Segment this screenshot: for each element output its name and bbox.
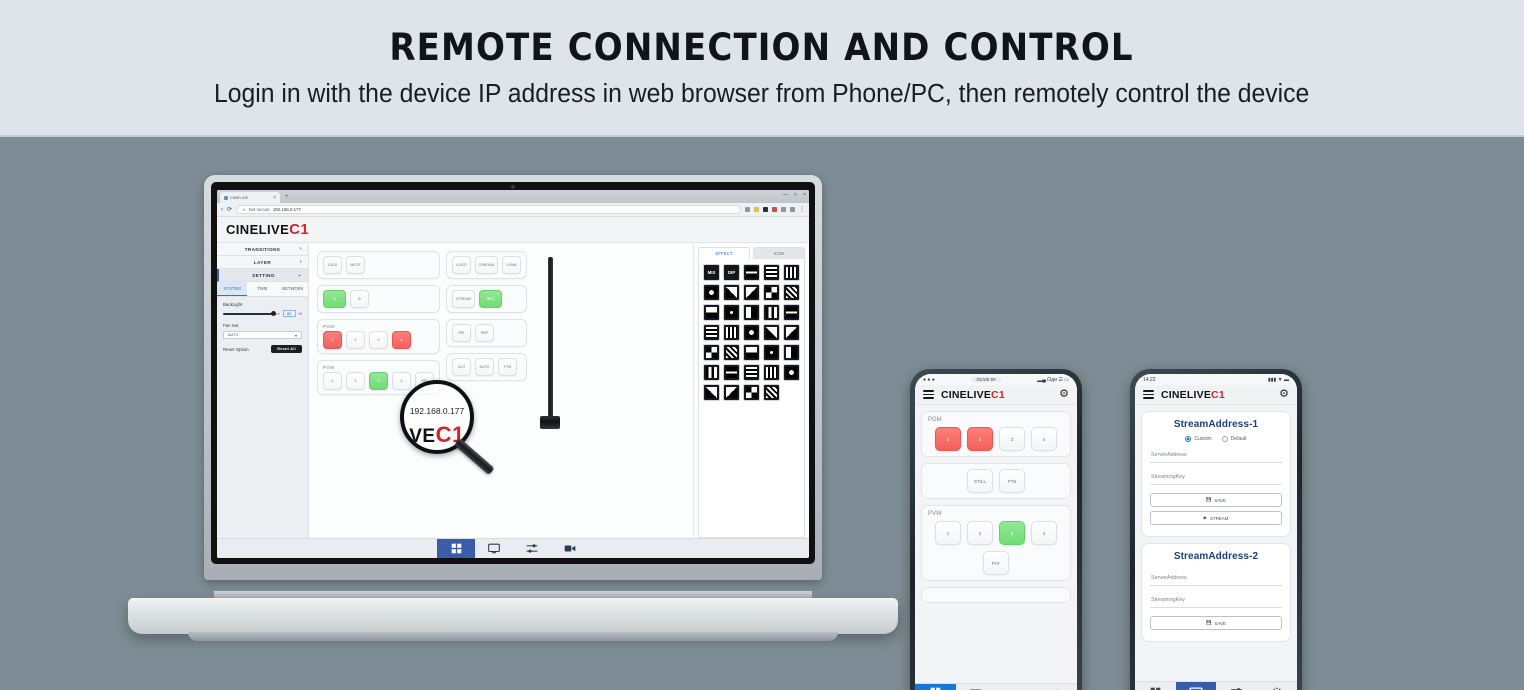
pgm-group: PGM 1 2 3 4 <box>317 319 440 354</box>
radio-custom[interactable]: Custom <box>1185 436 1211 442</box>
effect-thumbnail <box>746 367 757 378</box>
address-bar[interactable]: ⚠ Not secure 192.168.0.177 <box>236 205 741 214</box>
pgm-button-3[interactable]: 3 <box>999 427 1025 451</box>
stream-group: STREAM REC <box>446 285 527 313</box>
save-icon: 💾 <box>1206 497 1211 503</box>
app-header: CINELIVEC1 <box>217 217 809 243</box>
nav-tab-console[interactable]: CONSOLE <box>915 684 956 690</box>
sliders-icon <box>526 543 538 554</box>
footer-tab-settings[interactable] <box>513 539 551 559</box>
chevron-right-icon: › <box>300 259 302 265</box>
effect-cell-26[interactable] <box>703 364 720 381</box>
magnified-brand-text: VE <box>409 426 435 447</box>
nav-tab-sliders[interactable] <box>1216 682 1257 690</box>
effect-thumbnail <box>746 267 757 278</box>
transition-group: CUT AUTO FTB <box>446 353 527 381</box>
sidebar-item-label: LAYER <box>254 260 271 265</box>
bus-a-button[interactable]: A <box>323 290 346 308</box>
brand-text: CINELIVE <box>941 389 991 401</box>
brand-accent: C1 <box>1211 389 1225 401</box>
cut-button[interactable]: CUT <box>452 358 471 376</box>
tab-system[interactable]: SYSTEM <box>217 282 247 296</box>
pgm-button-4[interactable]: 4 <box>392 331 411 349</box>
brand-accent: C1 <box>991 389 1005 401</box>
pip-button[interactable]: PIP <box>452 324 471 342</box>
button-row: A B <box>323 290 434 308</box>
effect-cell-19[interactable] <box>763 324 780 341</box>
sidebar-item-transitions[interactable]: TRANSITIONS › <box>217 243 308 256</box>
effect-thumbnail <box>726 327 737 338</box>
control-panels: LOCK MUTE A B <box>309 243 693 538</box>
effect-cell-6[interactable] <box>703 284 720 301</box>
effect-thumbnail <box>746 287 757 298</box>
effect-cell-10[interactable] <box>783 284 800 301</box>
pat-button[interactable]: PAT <box>983 551 1009 575</box>
ftb-button[interactable]: FTB <box>498 358 517 376</box>
effect-thumbnail <box>766 347 777 358</box>
browser-tab[interactable]: CINELIVE × <box>220 192 280 203</box>
status-right: ▮▮▮ ▼ ▬ <box>1268 377 1289 383</box>
hamburger-icon[interactable] <box>923 390 934 399</box>
lock-button[interactable]: LOCK <box>323 256 342 274</box>
effect-thumbnail <box>706 307 717 318</box>
server-address-input[interactable]: ServerAddress <box>1150 449 1282 463</box>
radio-default[interactable]: Default <box>1222 436 1247 442</box>
footer-tab-console[interactable] <box>437 539 475 559</box>
stream-card-title: StreamAddress-2 <box>1150 551 1282 562</box>
extension-icon-1[interactable] <box>745 207 750 212</box>
button-row: LOCK MUTE <box>323 256 434 274</box>
pvw-button-2[interactable]: 2 <box>967 521 993 545</box>
extension-icon-6[interactable] <box>790 207 795 212</box>
phone1-still-ftb-group: STILL FTB <box>921 463 1071 499</box>
effect-thumbnail <box>726 287 737 298</box>
effect-cell-24[interactable] <box>763 344 780 361</box>
gear-icon[interactable]: ⚙ <box>1059 389 1069 400</box>
save-label: SAVE <box>1215 498 1226 503</box>
status-time: 14:22 <box>1143 377 1156 383</box>
sidebar-item-label: SETTING <box>252 273 275 278</box>
back-icon[interactable]: ‹ <box>221 207 223 213</box>
slider-knob[interactable] <box>271 311 276 316</box>
chevron-down-icon: ⌄ <box>297 272 302 278</box>
browser-tab-title: CINELIVE <box>230 195 248 200</box>
pvw-button-3[interactable]: 3 <box>369 372 388 390</box>
effect-cell-17[interactable] <box>723 324 740 341</box>
phone1-bottom-nav: CONSOLE <box>915 683 1077 690</box>
effects-grid-wrap: MIXDIP <box>698 259 805 538</box>
t-bar-handle[interactable] <box>540 416 560 429</box>
effect-thumbnail <box>766 387 777 398</box>
backlight-slider[interactable] <box>223 313 280 315</box>
button-row: PAT <box>928 551 1064 575</box>
phone2-bottom-nav <box>1135 681 1297 690</box>
save-icon: 💾 <box>1206 620 1211 626</box>
not-secure-label: Not secure <box>249 207 270 212</box>
magnifier: 192.168.0.177 VEC1 <box>400 380 474 454</box>
pgm-button-2[interactable]: 2 <box>967 427 993 451</box>
favicon-icon <box>224 196 228 200</box>
close-icon[interactable]: × <box>273 195 276 201</box>
app-sidebar: TRANSITIONS › LAYER › SETTING ⌄ <box>217 243 309 538</box>
radio-dot-icon <box>1185 436 1191 442</box>
effect-cell-13[interactable] <box>743 304 760 321</box>
effect-cell-3[interactable] <box>743 264 760 281</box>
button-row: 1 2 3 4 <box>323 331 434 349</box>
devices-stage: CINELIVE × + — □ × ‹ ⟳ <box>0 137 1524 690</box>
new-tab-button[interactable]: + <box>282 192 292 203</box>
effect-cell-8[interactable] <box>743 284 760 301</box>
window-controls: — □ × <box>783 192 806 198</box>
pgm-button-2[interactable]: 2 <box>346 331 365 349</box>
effect-thumbnail <box>706 287 717 298</box>
backlight-label: BackLight <box>223 302 302 307</box>
fanset-label: Fan Set <box>223 323 302 328</box>
phone1-appbar: CINELIVEC1 ⚙ <box>915 385 1077 405</box>
effect-thumbnail <box>786 287 797 298</box>
gear-icon <box>1271 687 1283 690</box>
pgm-label: PGM <box>928 417 1064 423</box>
t-bar-container <box>533 251 567 534</box>
nav-tab-settings[interactable] <box>1037 684 1078 690</box>
tab-network[interactable]: NETWORK <box>278 282 308 296</box>
brand-accent: C1 <box>289 221 309 238</box>
chroma-button[interactable]: CHROMA <box>475 256 498 274</box>
effect-cell-29[interactable] <box>763 364 780 381</box>
laptop-base <box>128 590 898 650</box>
logo-button[interactable]: LOGO <box>452 256 471 274</box>
setting-form: BackLight 80 % Fan Set <box>217 297 308 358</box>
effect-cell-14[interactable] <box>763 304 780 321</box>
phone1-brand: CINELIVEC1 <box>941 389 1005 401</box>
sidebar-item-layer[interactable]: LAYER › <box>217 256 308 269</box>
pgm-label: PGM <box>323 324 434 329</box>
effect-thumbnail <box>766 307 777 318</box>
t-bar-fader[interactable] <box>548 257 553 425</box>
minimize-icon[interactable]: — <box>783 192 788 198</box>
effect-cell-20[interactable] <box>783 324 800 341</box>
stream-address-card-2: StreamAddress-2 ServerAddress StreamingK… <box>1141 543 1291 642</box>
status-left: ● ● ● <box>923 377 935 383</box>
pvw-button-2[interactable]: 2 <box>346 372 365 390</box>
effect-cell-22[interactable] <box>723 344 740 361</box>
nav-tab-sliders[interactable] <box>996 684 1037 690</box>
pvw-button-4[interactable]: 4 <box>1031 521 1057 545</box>
chevron-down-icon: ▾ <box>295 333 297 338</box>
effect-thumbnail <box>766 287 777 298</box>
radio-label: Custom <box>1194 436 1211 442</box>
effect-cell-18[interactable] <box>743 324 760 341</box>
sidebar-item-label: TRANSITIONS <box>245 247 281 252</box>
setting-tabs: SYSTEM TIME NETWORK <box>217 282 308 297</box>
phone1-statusbar: ● ● ● OLIVE Θ• ▂▄ ᗣди ☲ ▭ <box>915 374 1077 385</box>
footer-tab-camera[interactable] <box>551 539 589 559</box>
effect-cell-15[interactable] <box>783 304 800 321</box>
tab-effect[interactable]: EFFECT <box>698 247 750 259</box>
gear-icon[interactable]: ⚙ <box>1279 389 1289 400</box>
stream-mode-radios: Custom Default <box>1150 436 1282 442</box>
camera-icon <box>564 543 576 554</box>
pgm-button-1[interactable]: 1 <box>935 427 961 451</box>
nav-tab-monitor[interactable] <box>956 684 997 690</box>
footer-tab-monitor[interactable] <box>475 539 513 559</box>
stream-button[interactable]: STREAM <box>452 290 475 308</box>
pgm-button-1[interactable]: 1 <box>323 331 342 349</box>
magnified-ip-address: 192.168.0.177 <box>410 406 464 416</box>
effect-cell-1[interactable]: MIX <box>703 264 720 281</box>
app-body: TRANSITIONS › LAYER › SETTING ⌄ <box>217 243 809 538</box>
phone1-pvw-group: PVW 1 2 3 4 PAT <box>921 505 1071 581</box>
page-title: REMOTE CONNECTION AND CONTROL <box>390 26 1134 69</box>
streaming-key-input[interactable]: StreamingKey <box>1150 471 1282 485</box>
laptop-bezel: CINELIVE × + — □ × ‹ ⟳ <box>211 182 815 564</box>
button-row: PIP PBP <box>452 324 521 342</box>
backlight-value[interactable]: 80 <box>283 310 296 317</box>
phone1-screen: ● ● ● OLIVE Θ• ▂▄ ᗣди ☲ ▭ CINELIVEC1 ⚙ P… <box>915 374 1077 690</box>
mode-group: LOCK MUTE <box>317 251 440 279</box>
effect-cell-21[interactable] <box>703 344 720 361</box>
bus-b-button[interactable]: B <box>350 290 369 308</box>
nav-tab-settings[interactable] <box>1257 682 1298 690</box>
play-icon: ▶ <box>1204 515 1207 521</box>
stream-label: STREAM <box>1210 516 1228 521</box>
effect-thumbnail <box>746 327 757 338</box>
effect-thumbnail <box>726 367 737 378</box>
effect-cell-11[interactable] <box>703 304 720 321</box>
still-button[interactable]: STILL <box>967 469 993 493</box>
laptop-lid: CINELIVE × + — □ × ‹ ⟳ <box>204 175 822 580</box>
fanset-value: AUTO <box>228 333 238 337</box>
effect-cell-31[interactable] <box>703 384 720 401</box>
effect-cell-7[interactable] <box>723 284 740 301</box>
reload-icon[interactable]: ⟳ <box>227 206 232 213</box>
effect-thumbnail <box>706 347 717 358</box>
pbp-button[interactable]: PBP <box>475 324 494 342</box>
phone-device-1: ● ● ● OLIVE Θ• ▂▄ ᗣди ☲ ▭ CINELIVEC1 ⚙ P… <box>910 369 1082 690</box>
tab-time[interactable]: TIME <box>247 282 277 296</box>
sidebar-item-setting[interactable]: SETTING ⌄ <box>217 269 308 282</box>
chevron-right-icon: › <box>300 246 302 252</box>
effect-cell-2[interactable]: DIP <box>723 264 740 281</box>
effects-grid: MIXDIP <box>703 264 800 401</box>
backlight-unit: % <box>299 312 302 316</box>
effect-cell-30[interactable] <box>783 364 800 381</box>
pgm-button-4[interactable]: 4 <box>1031 427 1057 451</box>
page-header: REMOTE CONNECTION AND CONTROL Login in w… <box>0 0 1524 137</box>
luma-button[interactable]: LUMA <box>502 256 521 274</box>
nav-tab-monitor[interactable] <box>1176 682 1217 690</box>
mute-button[interactable]: MUTE <box>346 256 365 274</box>
effect-thumbnail <box>706 387 717 398</box>
effect-cell-27[interactable] <box>723 364 740 381</box>
effect-thumbnail <box>746 307 757 318</box>
effect-thumbnail <box>746 387 757 398</box>
extension-icons[interactable] <box>745 207 795 212</box>
brand-text: CINELIVE <box>226 222 289 237</box>
browser-toolbar: ‹ ⟳ ⚠ Not secure 192.168.0.177 <box>217 203 809 217</box>
hamburger-icon[interactable] <box>1143 390 1154 399</box>
ftb-button[interactable]: FTB <box>999 469 1025 493</box>
button-row: 1 2 3 4 <box>928 427 1064 451</box>
grid-icon <box>930 687 941 690</box>
tab-icon[interactable]: ICON <box>753 247 805 259</box>
reset-all-button[interactable]: Reset All <box>271 345 302 353</box>
auto-button[interactable]: AUTO <box>475 358 494 376</box>
phone1-extra-group <box>921 587 1071 603</box>
app-main: LOCK MUTE A B <box>309 243 809 538</box>
effect-cell-32[interactable] <box>723 384 740 401</box>
effect-thumbnail <box>786 347 797 358</box>
effect-cell-4[interactable] <box>763 264 780 281</box>
effect-cell-9[interactable] <box>763 284 780 301</box>
stream-address-card-1: StreamAddress-1 Custom Default ServerAdd… <box>1141 411 1291 537</box>
monitor-icon <box>1189 687 1203 690</box>
effect-thumbnail <box>726 307 737 318</box>
phone2-appbar: CINELIVEC1 ⚙ <box>1135 385 1297 405</box>
nav-tab-console[interactable] <box>1135 682 1176 690</box>
effect-thumbnail <box>706 367 717 378</box>
phone2-statusbar: 14:22 ▮▮▮ ▼ ▬ <box>1135 374 1297 385</box>
save-label: SAVE <box>1215 621 1226 626</box>
effect-cell-12[interactable] <box>723 304 740 321</box>
effect-thumbnail <box>726 387 737 398</box>
effect-thumbnail <box>766 367 777 378</box>
browser-menu-icon[interactable]: ⋮ <box>799 206 805 213</box>
effect-thumbnail <box>706 327 717 338</box>
effect-thumbnail <box>786 327 797 338</box>
button-row: STREAM REC <box>452 290 521 308</box>
button-row: LOGO CHROMA LUMA <box>452 256 521 274</box>
extension-icon-2[interactable] <box>754 207 759 212</box>
effect-cell-25[interactable] <box>783 344 800 361</box>
server-address-input[interactable]: ServerAddress <box>1150 572 1282 586</box>
laptop-deck-lip <box>188 632 838 641</box>
grid-icon <box>451 543 462 554</box>
effect-thumbnail <box>786 267 797 278</box>
laptop-screen: CINELIVE × + — □ × ‹ ⟳ <box>217 190 809 558</box>
save-button[interactable]: 💾 SAVE <box>1150 616 1282 630</box>
monitor-icon <box>488 543 500 554</box>
phone1-pgm-group: PGM 1 2 3 4 <box>921 411 1071 457</box>
laptop-device: CINELIVE × + — □ × ‹ ⟳ <box>128 175 898 650</box>
laptop-deck <box>128 598 898 634</box>
save-button[interactable]: 💾 SAVE <box>1150 493 1282 507</box>
status-pill: OLIVE Θ• <box>971 377 1000 382</box>
phone2-body: StreamAddress-1 Custom Default ServerAdd… <box>1135 405 1297 681</box>
effect-thumbnail <box>766 267 777 278</box>
url-text: 192.168.0.177 <box>273 207 301 212</box>
effect-cell-16[interactable] <box>703 324 720 341</box>
ab-group: A B <box>317 285 440 313</box>
effect-cell-5[interactable] <box>783 264 800 281</box>
not-secure-icon: ⚠ <box>242 207 246 212</box>
status-right: ▂▄ ᗣди ☲ ▭ <box>1037 377 1069 383</box>
effects-tabs: EFFECT ICON <box>698 247 805 259</box>
fanset-select[interactable]: AUTO ▾ <box>223 331 302 339</box>
maximize-icon[interactable]: □ <box>794 192 797 198</box>
browser-tabstrip: CINELIVE × + — □ × <box>217 190 809 203</box>
pvw-label: PVW <box>928 511 1064 517</box>
effect-cell-23[interactable] <box>743 344 760 361</box>
pvw-button-1[interactable]: 1 <box>935 521 961 545</box>
effect-cell-34[interactable] <box>763 384 780 401</box>
button-row: CUT AUTO FTB <box>452 358 521 376</box>
stream-card-title: StreamAddress-1 <box>1150 419 1282 430</box>
effect-thumbnail <box>786 367 797 378</box>
phone-device-2: 14:22 ▮▮▮ ▼ ▬ CINELIVEC1 ⚙ StreamAddress… <box>1130 369 1302 690</box>
button-row: 1 2 3 4 <box>928 521 1064 545</box>
extension-icon-5[interactable] <box>781 207 786 212</box>
page-subtitle: Login in with the device IP address in w… <box>214 80 1309 109</box>
key-group: LOGO CHROMA LUMA <box>446 251 527 279</box>
app-brand: CINELIVEC1 <box>226 221 309 238</box>
radio-dot-icon <box>1222 436 1228 442</box>
button-row: STILL FTB <box>928 469 1064 493</box>
record-button[interactable]: REC <box>479 290 502 308</box>
app-footer-nav <box>217 538 809 558</box>
effect-thumbnail <box>746 347 757 358</box>
pvw-button-3[interactable]: 3 <box>999 521 1025 545</box>
reset-label: Reset Option <box>223 347 249 352</box>
pgm-button-3[interactable]: 3 <box>369 331 388 349</box>
extension-icon-4[interactable] <box>772 207 777 212</box>
effect-thumbnail <box>726 347 737 358</box>
effect-cell-33[interactable] <box>743 384 760 401</box>
extension-icon-3[interactable] <box>763 207 768 212</box>
close-window-icon[interactable]: × <box>803 192 806 198</box>
effect-cell-28[interactable] <box>743 364 760 381</box>
backlight-slider-row: 80 % <box>223 310 302 317</box>
reset-row: Reset Option Reset All <box>223 345 302 353</box>
webcam-icon <box>511 185 515 189</box>
stream-button[interactable]: ▶ STREAM <box>1150 511 1282 525</box>
pvw-label: PVW <box>323 365 434 370</box>
effect-thumbnail <box>766 327 777 338</box>
pvw-button-1[interactable]: 1 <box>323 372 342 390</box>
slider-fill <box>223 313 273 315</box>
pip-group: PIP PBP <box>446 319 527 347</box>
phone1-body: PGM 1 2 3 4 STILL FTB PVW <box>915 405 1077 683</box>
phone2-brand: CINELIVEC1 <box>1161 389 1225 401</box>
phone2-screen: 14:22 ▮▮▮ ▼ ▬ CINELIVEC1 ⚙ StreamAddress… <box>1135 374 1297 690</box>
effects-panel: EFFECT ICON MIXDIP <box>693 243 809 538</box>
radio-label: Default <box>1231 436 1247 442</box>
effect-thumbnail <box>786 307 797 318</box>
streaming-key-input[interactable]: StreamingKey <box>1150 594 1282 608</box>
brand-text: CINELIVE <box>1161 389 1211 401</box>
